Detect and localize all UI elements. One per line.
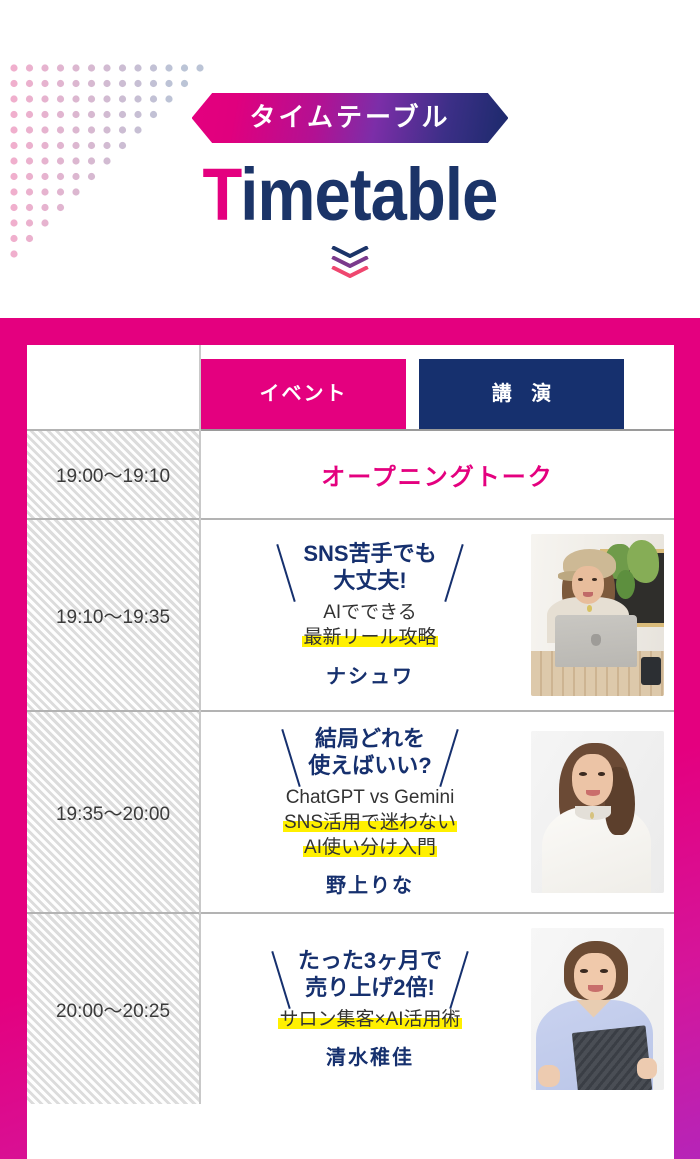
- row-time: 20:00〜20:25: [27, 913, 200, 1104]
- row-time: 19:00〜19:10: [27, 430, 200, 519]
- session-text: SNS苦手でも 大丈夫! AIでできる 最新リール攻略 ナシュワ: [215, 541, 525, 688]
- subtitle-text-highlighted: 最新リール攻略: [302, 627, 437, 648]
- banner-container: タイムテーブル: [0, 93, 700, 143]
- table-row: 19:00〜19:10 オープニングトーク: [27, 430, 674, 519]
- page-title-rest: imetable: [240, 153, 497, 236]
- speaker-photo-woman-with-folder: [531, 928, 664, 1090]
- subtitle-line: AIでできる: [215, 600, 525, 625]
- session-subtitle: ChatGPT vs Gemini SNS活用で迷わない AI使い分け入門: [215, 785, 525, 861]
- session-text: たった3ヶ月で 売り上げ2倍! サロン集客×AI活用術 清水稚佳: [215, 948, 525, 1070]
- row-time: 19:10〜19:35: [27, 519, 200, 711]
- headline-wrap: たった3ヶ月で 売り上げ2倍!: [268, 948, 472, 1002]
- row-content: たった3ヶ月で 売り上げ2倍! サロン集客×AI活用術 清水稚佳: [200, 913, 674, 1104]
- subtitle-line: 最新リール攻略: [215, 625, 525, 650]
- section-banner: タイムテーブル: [192, 93, 509, 143]
- timetable: イベント 講 演 19:00〜19:10 オープニングトーク 19:10〜19:…: [27, 345, 674, 1104]
- headline-line: SNS苦手でも: [303, 541, 436, 568]
- headline-wrap: SNS苦手でも 大丈夫!: [273, 541, 466, 595]
- speaker-name: 野上りな: [215, 869, 525, 898]
- session-subtitle: サロン集客×AI活用術: [215, 1007, 525, 1032]
- slash-right-decor: [444, 544, 463, 602]
- row-content: オープニングトーク: [200, 430, 674, 519]
- slash-left-decor: [282, 729, 301, 787]
- time-column-header: [27, 345, 200, 430]
- session-headline: SNS苦手でも 大丈夫!: [303, 541, 436, 595]
- speaker-photo-woman-with-cap-and-laptop: [531, 534, 664, 696]
- page-header: タイムテーブル Timetable: [0, 0, 700, 318]
- page-title: Timetable: [42, 158, 658, 232]
- slash-left-decor: [277, 544, 296, 602]
- speaker-name: ナシュワ: [215, 660, 525, 689]
- subtitle-line: サロン集客×AI活用術: [215, 1007, 525, 1032]
- headline-wrap: 結局どれを 使えばいい?: [278, 726, 461, 780]
- subtitle-text: ChatGPT vs Gemini: [286, 787, 455, 808]
- subtitle-text-highlighted: AI使い分け入門: [303, 837, 437, 858]
- category-tabs-cell: イベント 講 演: [200, 345, 674, 430]
- row-time: 19:35〜20:00: [27, 711, 200, 913]
- timetable-header-row: イベント 講 演: [27, 345, 674, 430]
- page-title-accent: T: [203, 153, 241, 236]
- table-row: 19:35〜20:00 結局どれを 使えばいい?: [27, 711, 674, 913]
- event-label: オープニングトーク: [201, 431, 674, 518]
- tab-talk[interactable]: 講 演: [419, 359, 624, 429]
- table-row: 20:00〜20:25 たった3ヶ月で 売り上げ2倍!: [27, 913, 674, 1104]
- headline-line: 結局どれを: [308, 726, 431, 753]
- row-content: SNS苦手でも 大丈夫! AIでできる 最新リール攻略 ナシュワ: [200, 519, 674, 711]
- row-content: 結局どれを 使えばいい? ChatGPT vs Gemini SNS活用で迷わな…: [200, 711, 674, 913]
- subtitle-text: AIでできる: [323, 602, 417, 623]
- slash-left-decor: [271, 952, 290, 1010]
- table-row: 19:10〜19:35 SNS苦手でも 大丈夫!: [27, 519, 674, 711]
- slash-right-decor: [439, 729, 458, 787]
- speaker-photo-woman-in-white-sweater: [531, 731, 664, 893]
- subtitle-line: AI使い分け入門: [215, 835, 525, 860]
- speaker-name: 清水稚佳: [215, 1041, 525, 1070]
- session-text: 結局どれを 使えばいい? ChatGPT vs Gemini SNS活用で迷わな…: [215, 726, 525, 898]
- timetable-frame: イベント 講 演 19:00〜19:10 オープニングトーク 19:10〜19:…: [0, 318, 700, 1159]
- headline-line: たった3ヶ月で: [298, 948, 442, 975]
- subtitle-text-highlighted: SNS活用で迷わない: [283, 812, 457, 833]
- subtitle-line: SNS活用で迷わない: [215, 810, 525, 835]
- headline-line: 売り上げ2倍!: [298, 975, 442, 1002]
- headline-line: 使えばいい?: [308, 753, 431, 780]
- session-headline: 結局どれを 使えばいい?: [308, 726, 431, 780]
- subtitle-line: ChatGPT vs Gemini: [215, 785, 525, 810]
- tab-event[interactable]: イベント: [201, 359, 406, 429]
- session-headline: たった3ヶ月で 売り上げ2倍!: [298, 948, 442, 1002]
- session-subtitle: AIでできる 最新リール攻略: [215, 600, 525, 651]
- slash-right-decor: [449, 952, 468, 1010]
- subtitle-text-highlighted: サロン集客×AI活用術: [278, 1009, 461, 1030]
- headline-line: 大丈夫!: [303, 568, 436, 595]
- timetable-inner: イベント 講 演 19:00〜19:10 オープニングトーク 19:10〜19:…: [27, 345, 674, 1159]
- scroll-down-chevrons: [0, 246, 700, 276]
